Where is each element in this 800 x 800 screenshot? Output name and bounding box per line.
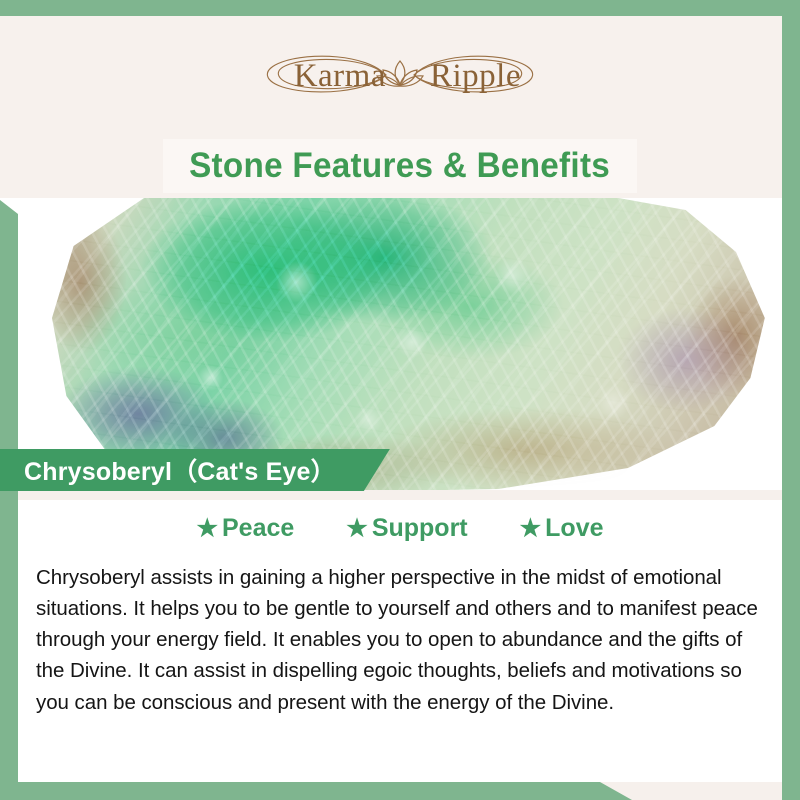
stone-highlight-specks bbox=[52, 198, 772, 490]
stone-photo-canvas bbox=[0, 198, 800, 490]
benefit-keyword-label: Support bbox=[372, 514, 468, 543]
star-icon: ★ bbox=[346, 517, 368, 541]
benefit-keyword-peace: ★ Peace bbox=[196, 514, 294, 543]
benefit-keyword-love: ★ Love bbox=[520, 514, 604, 543]
brand-name-right: Ripple bbox=[430, 58, 521, 94]
frame-border-left bbox=[0, 200, 18, 800]
frame-border-bottom bbox=[0, 782, 632, 800]
stone-features-infographic: Karma Ripple Stone Features & Benefits C… bbox=[0, 0, 800, 800]
brand-name-left: Karma bbox=[294, 58, 386, 94]
benefit-keywords: ★ Peace ★ Support ★ Love bbox=[18, 514, 782, 543]
stone-details-card: ★ Peace ★ Support ★ Love Chrysoberyl ass… bbox=[18, 500, 782, 782]
stone-photo bbox=[0, 198, 800, 490]
brand-logo: Karma Ripple bbox=[0, 44, 800, 106]
frame-border-right bbox=[782, 0, 800, 800]
star-icon: ★ bbox=[520, 517, 542, 541]
page-title: Stone Features & Benefits bbox=[190, 146, 611, 186]
stone-body bbox=[52, 198, 772, 490]
stone-name: Chrysoberyl（Cat's Eye） bbox=[24, 452, 336, 488]
benefit-keyword-label: Love bbox=[545, 514, 603, 543]
page-title-plaque: Stone Features & Benefits bbox=[163, 139, 637, 193]
benefit-keyword-support: ★ Support bbox=[346, 514, 467, 543]
benefit-keyword-label: Peace bbox=[222, 514, 294, 543]
star-icon: ★ bbox=[196, 517, 218, 541]
stone-name-banner: Chrysoberyl（Cat's Eye） bbox=[0, 449, 390, 491]
stone-description: Chrysoberyl assists in gaining a higher … bbox=[36, 562, 774, 718]
frame-border-top bbox=[0, 0, 800, 16]
